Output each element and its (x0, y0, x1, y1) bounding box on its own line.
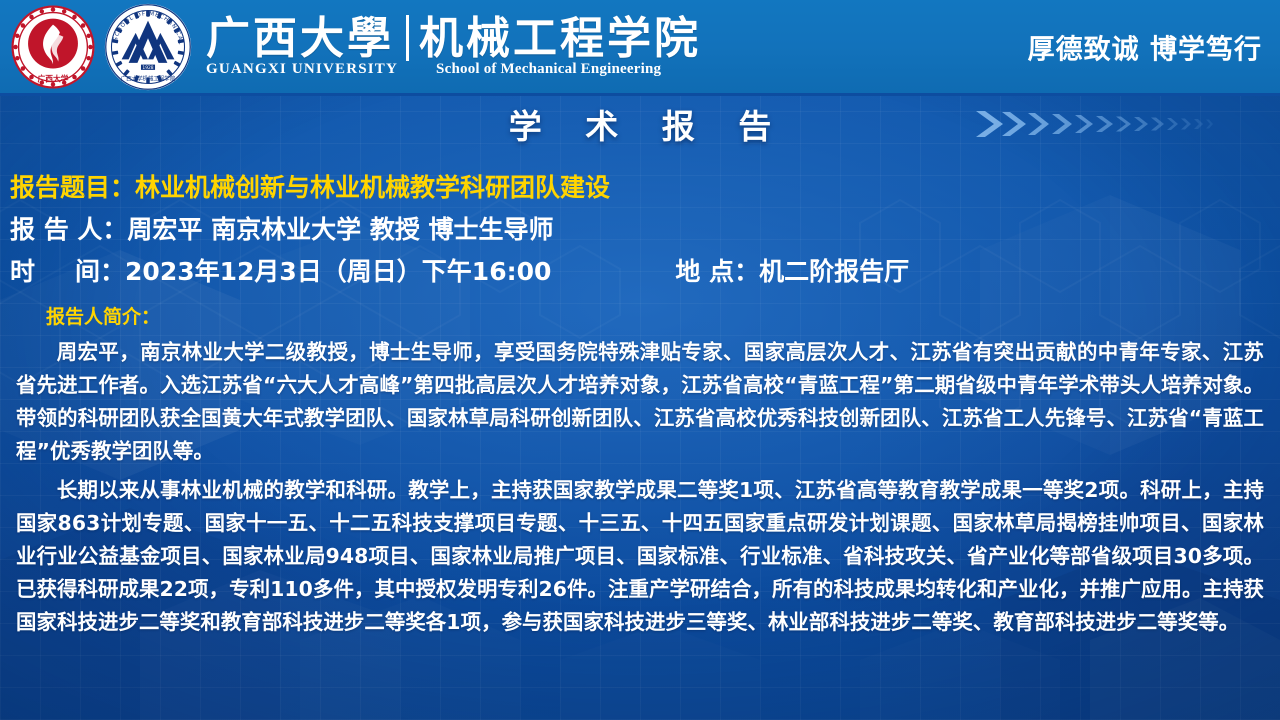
university-name-en: GUANGXI UNIVERSITY (206, 61, 398, 78)
lecture-info: 报告题目： 林业机械创新与林业机械教学科研团队建设 报 告 人： 周宏平 南京林… (0, 168, 1280, 294)
speaker-bio: 报告人简介： 周宏平，南京林业大学二级教授，博士生导师，享受国务院特殊津贴专家、… (0, 302, 1280, 639)
bio-heading: 报告人简介： (8, 302, 1272, 329)
header-bar: 1928 广西大学 (0, 0, 1280, 96)
topic-value: 林业机械创新与林业机械教学科研团队建设 (135, 168, 610, 204)
time-value: 2023年12月3日（周日）下午16:00 (125, 252, 551, 288)
academic-lecture-poster: 1928 广西大学 (0, 0, 1280, 720)
time-venue-line: 时 间： 2023年12月3日（周日）下午16:00 地 点： 机二阶报告厅 (0, 252, 1280, 288)
topic-line: 报告题目： 林业机械创新与林业机械教学科研团队建设 (0, 168, 1280, 204)
bio-paragraph: 周宏平，南京林业大学二级教授，博士生导师，享受国务院特殊津贴专家、国家高层次人才… (8, 336, 1272, 468)
school-name-en: School of Mechanical Engineering (436, 61, 661, 78)
svg-text:广西大学: 广西大学 (38, 73, 69, 83)
school-name-cn: 机械工程学院 (419, 17, 701, 61)
guangxi-university-seal-icon: 1928 广西大学 (10, 4, 96, 90)
venue-group: 地 点： 机二阶报告厅 (675, 252, 909, 288)
venue-value: 机二阶报告厅 (759, 252, 909, 288)
title-band: 学 术 报 告 (0, 99, 1280, 157)
wordmark-divider (406, 15, 409, 61)
school-of-mechanical-engineering-emblem-icon: 1928 广西大学机械工程学院 SCHOOL OF MECHANICAL ENG… (104, 3, 192, 91)
header-branding: 1928 广西大学 (0, 3, 701, 91)
svg-text:广西大学机械工程学院: 广西大学机械工程学院 (121, 74, 176, 82)
bio-paragraph: 长期以来从事林业机械的教学和科研。教学上，主持获国家教学成果二等奖1项、江苏省高… (8, 474, 1272, 639)
wordmark: 广西大學 机械工程学院 GUANGXI UNIVERSITY School of… (206, 15, 701, 78)
university-name-cn: 广西大學 (206, 17, 394, 61)
chevron-right-icon-group (972, 105, 1272, 149)
svg-text:1928: 1928 (142, 65, 153, 71)
venue-label: 地 点： (675, 252, 759, 288)
time-label-colon: 间： (75, 252, 125, 288)
speaker-label: 报 告 人： (0, 210, 127, 246)
topic-label: 报告题目： (0, 168, 135, 204)
time-label: 时 (0, 252, 35, 288)
speaker-value: 周宏平 南京林业大学 教授 博士生导师 (127, 210, 553, 246)
university-motto: 厚德致诚 博学笃行 (1028, 27, 1262, 66)
speaker-line: 报 告 人： 周宏平 南京林业大学 教授 博士生导师 (0, 210, 1280, 246)
